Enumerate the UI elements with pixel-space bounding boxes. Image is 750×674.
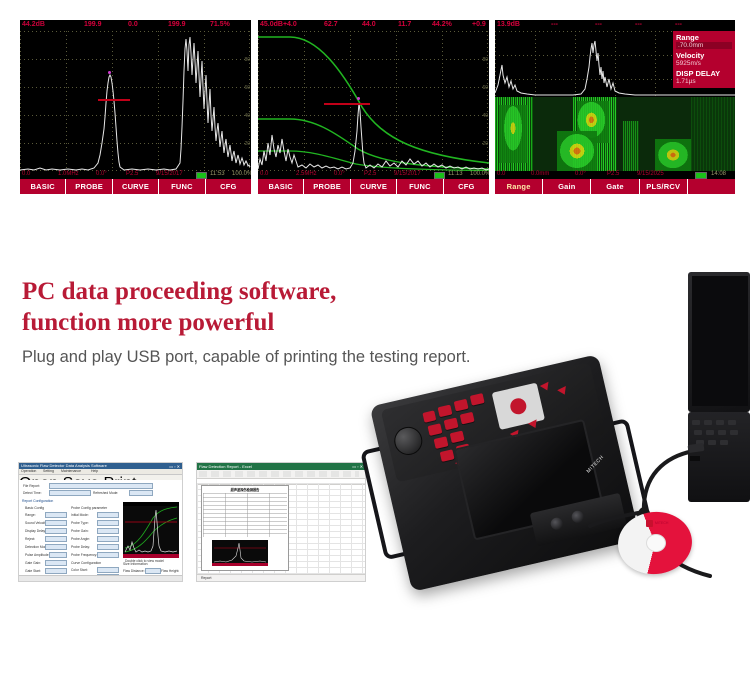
probe-gain-input[interactable] — [97, 528, 119, 534]
menu-setting[interactable]: Setting — [43, 469, 54, 473]
a-scan-screen[interactable]: 44.2dB 199.9 0.0 199.9 71.5% 80 60 40 20… — [20, 20, 251, 194]
screen3-bscan-waterfall — [495, 97, 735, 171]
screen3-menu-range[interactable]: Range — [495, 179, 543, 194]
key-r2c3[interactable] — [460, 412, 475, 425]
screen1-value-3: 199.9 — [168, 21, 186, 28]
screen3-menu-plsrcv[interactable]: PLS/RCV — [640, 179, 688, 194]
laptop-display[interactable] — [692, 276, 748, 406]
screen2-peak-marker — [357, 97, 360, 100]
file-report-input[interactable] — [49, 483, 153, 489]
refresh-mode-label: Refreshed Mode: — [93, 491, 118, 495]
probe-frequency-label: Probe Frequency: — [71, 553, 97, 557]
screen2-status-row: 0.0 2.5MHz 0.0° P2.5 9/15/2017 11:13 100… — [258, 171, 489, 179]
window-body: File Report: Detect Time: Refreshed Mode… — [19, 480, 182, 581]
window-controls[interactable]: ▭ ▫ ✕ — [169, 464, 180, 469]
screen2-menu-basic[interactable]: BASIC — [258, 179, 304, 194]
status-bar — [19, 575, 182, 581]
screen2-status-1: 2.5MHz — [296, 171, 317, 177]
file-report-label: File Report: — [23, 484, 40, 488]
probe-angle-input[interactable] — [97, 536, 119, 542]
excel-report-window[interactable]: Flaw Detection Report - Excel ▭ ▫ ✕ 超声波探… — [196, 462, 366, 582]
screen2-value-4: 44.2% — [432, 21, 452, 28]
screen2-plot: 80 60 40 20 — [258, 31, 489, 171]
excel-title: Flaw Detection Report - Excel — [199, 464, 252, 469]
pulse-amplitude-input[interactable] — [49, 552, 67, 558]
battery-icon — [695, 172, 707, 179]
waveform-preview — [123, 502, 179, 558]
screen2-status-2: 0.0° — [334, 171, 345, 177]
screen3-status-0: 0.0 — [497, 171, 505, 177]
screen1-menu-bar[interactable]: BASIC PROBE CURVE FUNC CFG — [20, 179, 251, 194]
screen2-gate-line — [324, 103, 370, 105]
model-hint: Double click to view model — [125, 559, 164, 563]
screen1-waveform — [20, 31, 251, 171]
menu-operation[interactable]: Operation — [21, 469, 36, 473]
sheet-tab[interactable]: Report — [201, 576, 212, 580]
reject-label: Reject: — [25, 537, 35, 541]
color-start-label: Color Start: — [71, 568, 88, 572]
screen3-status-row: 0.0 0.0mm 0.0° P2.5 9/15/2025 14:08 — [495, 171, 735, 179]
key-r2c2[interactable] — [444, 418, 459, 431]
pulse-amplitude-label: Pulse Amplitude: — [25, 553, 50, 557]
flaw-height-label: Flaw Height: — [161, 569, 179, 573]
screen1-status-1: 1.0MHz — [58, 171, 79, 177]
refresh-mode-input[interactable] — [129, 490, 153, 496]
screen1-status-6: 100.0% — [232, 171, 251, 177]
screen2-value-2: 44.0 — [362, 21, 376, 28]
key-r3c2[interactable] — [450, 431, 465, 444]
screen2-dac-curves — [258, 31, 489, 171]
display-delay-input[interactable] — [45, 528, 67, 534]
report-heading: 超声波探伤检测报告 — [202, 487, 288, 492]
key-r2c1[interactable] — [427, 423, 442, 436]
screen1-status-3: P2.5 — [126, 171, 138, 177]
detect-time-input[interactable] — [49, 490, 91, 496]
gate-gain-label: Gate Gain: — [25, 561, 41, 565]
flaw-distance-label: Flaw Distance: — [123, 569, 145, 573]
software-cd: MITECH — [618, 512, 692, 578]
screen2-status-5: 11:13 — [448, 171, 463, 177]
range-label: Range — [676, 33, 732, 42]
velocity-label: Velocity — [676, 51, 732, 60]
screen3-side-panel[interactable]: Range .70.0mm Velocity 5925m/s DISP DELA… — [673, 31, 735, 88]
screen1-gate-line — [98, 99, 130, 101]
arrow-key-2[interactable] — [557, 386, 569, 397]
flaw-distance-input[interactable] — [145, 568, 161, 574]
window-title: Ultrasonic Flaw Detector Data Analysis S… — [21, 463, 107, 468]
screen1-status-0: 0.0 — [22, 171, 30, 177]
screen1-value-1: 199.9 — [84, 21, 102, 28]
screen3-menu-bar[interactable]: Range Gain Gate PLS/RCV — [495, 179, 735, 194]
range-value[interactable]: .70.0mm — [676, 42, 732, 49]
usb-cable — [560, 400, 750, 620]
screen1-menu-func[interactable]: FUNC — [159, 179, 205, 194]
key-r3c1[interactable] — [434, 436, 449, 449]
screen3-menu-empty[interactable] — [688, 179, 735, 194]
screen3-status-3: P2.5 — [607, 171, 619, 177]
screen1-menu-probe[interactable]: PROBE — [66, 179, 112, 194]
screen3-status-2: 0.0° — [575, 171, 586, 177]
report-config-section: Report Configuration — [22, 499, 53, 503]
screen1-value-2: 0.0 — [128, 21, 138, 28]
gate-start-label: Gate Start: — [25, 569, 41, 573]
cd-label: MITECH — [655, 521, 668, 525]
menu-help[interactable]: Help — [91, 469, 98, 473]
screen1-status-row: 0.0 1.0MHz 0.0° P2.5 9/15/2017 11:53 100… — [20, 171, 251, 179]
probe-angle-label: Probe Angle: — [71, 537, 90, 541]
color-height-input[interactable] — [97, 581, 119, 582]
probe-frequency-input[interactable] — [97, 552, 119, 558]
color-start-input[interactable] — [97, 567, 119, 573]
screen2-menu-curve[interactable]: CURVE — [351, 179, 397, 194]
screen1-peak-marker — [108, 71, 111, 74]
screen1-status-4: 9/15/2017 — [156, 171, 183, 177]
initial-mode-label: Initial Mode: — [71, 513, 89, 517]
detection-mode-input[interactable] — [45, 544, 67, 550]
screen1-menu-curve[interactable]: CURVE — [113, 179, 159, 194]
screen3-menu-gate[interactable]: Gate — [591, 179, 639, 194]
screen3-status-4: 9/15/2025 — [637, 171, 664, 177]
screen2-gain-value: 45.0dB+4.0 — [260, 21, 297, 28]
screen2-value-3: 11.7 — [398, 21, 411, 28]
screen1-plot: 80 60 40 20 — [20, 31, 251, 171]
window-controls[interactable]: ▭ ▫ ✕ — [352, 464, 363, 469]
initial-mode-input[interactable] — [97, 512, 119, 518]
key-r1c2[interactable] — [438, 405, 453, 418]
probe-type-label: Probe Type: — [71, 521, 89, 525]
excel-ribbon[interactable] — [197, 470, 365, 479]
excel-status-bar: Report — [197, 574, 365, 581]
headline-line-1: PC data proceeding software, — [22, 278, 336, 305]
screen2-value-1: 62.7 — [324, 21, 338, 28]
basic-config-section: Basic Config — [25, 506, 44, 510]
curve-config-section: Curve Configuration — [71, 561, 101, 565]
screen2-menu-probe[interactable]: PROBE — [304, 179, 350, 194]
battery-icon — [196, 172, 207, 179]
screen1-value-4: 71.5% — [210, 21, 230, 28]
headline-block: PC data proceeding software, function mo… — [22, 276, 662, 368]
disp-delay-label: DISP DELAY — [676, 69, 732, 78]
screen3-menu-gain[interactable]: Gain — [543, 179, 591, 194]
pc-software-window[interactable]: Ultrasonic Flaw Detector Data Analysis S… — [18, 462, 183, 582]
dac-curve-screen[interactable]: 45.0dB+4.0 62.7 44.0 11.7 44.2% +0.9 80 … — [258, 20, 489, 194]
screen1-menu-cfg[interactable]: CFG — [206, 179, 251, 194]
gate-gain-input[interactable] — [45, 560, 67, 566]
screen2-status-0: 0.0 — [260, 171, 268, 177]
page-title: PC data proceeding software, function mo… — [22, 276, 662, 338]
screen2-menu-cfg[interactable]: CFG — [444, 179, 489, 194]
probe-gain-label: Probe Gain: — [71, 529, 89, 533]
screen3-status-1: 0.0mm — [531, 171, 549, 177]
headline-line-2: function more powerful — [22, 309, 274, 336]
screen1-status-2: 0.0° — [96, 171, 107, 177]
range-input[interactable] — [45, 512, 67, 518]
range-label: Range: — [25, 513, 36, 517]
disp-delay-value[interactable]: 1.71µs — [676, 78, 732, 85]
rotary-knob[interactable] — [392, 424, 426, 458]
cd-center-hole — [646, 534, 666, 552]
key-r1c3[interactable] — [454, 399, 469, 412]
spreadsheet-grid[interactable]: 超声波探伤检测报告 — [197, 483, 365, 575]
detect-time-label: Detect Time: — [23, 491, 42, 495]
screen2-status-3: P2.5 — [364, 171, 376, 177]
screen3-gain-value: 13.9dB — [497, 21, 520, 28]
report-sheet: 超声波探伤检测报告 — [201, 485, 289, 571]
velocity-value[interactable]: 5925m/s — [676, 60, 732, 67]
probe-config-section: Probe Config parameter — [71, 506, 107, 510]
key-r1c4[interactable] — [470, 393, 485, 406]
screen3-value-3: --- — [635, 21, 642, 28]
screen1-gain-value: 44.2dB — [22, 21, 45, 28]
screen2-status-4: 9/15/2017 — [394, 171, 421, 177]
power-key[interactable] — [422, 410, 436, 422]
screen2-menu-func[interactable]: FUNC — [397, 179, 443, 194]
gate-start-input[interactable] — [45, 568, 67, 574]
menu-maintenance[interactable]: Maintenance — [61, 469, 81, 473]
screen2-menu-bar[interactable]: BASIC PROBE CURVE FUNC CFG — [258, 179, 489, 194]
screen3-value-1: --- — [551, 21, 558, 28]
screen2-value-5: +0.9 — [472, 21, 486, 28]
screen1-status-5: 11:53 — [210, 171, 225, 177]
probe-delay-input[interactable] — [97, 544, 119, 550]
reject-input[interactable] — [45, 536, 67, 542]
arrow-key-1[interactable] — [540, 382, 552, 393]
b-scan-screen[interactable]: 13.9dB --- --- --- --- Range .70 — [495, 20, 735, 194]
probe-type-input[interactable] — [97, 520, 119, 526]
screen3-value-2: --- — [595, 21, 602, 28]
cd-logo-icon — [646, 520, 653, 527]
report-waveform-thumb — [212, 540, 268, 566]
display-delay-label: Display Delay: — [25, 529, 46, 533]
screen3-value-4: --- — [675, 21, 682, 28]
laptop-screen — [688, 272, 750, 412]
key-r4c1[interactable] — [440, 449, 455, 462]
screen2-status-6: 100.0% — [470, 171, 489, 177]
excel-title-bar: Flaw Detection Report - Excel ▭ ▫ ✕ — [197, 463, 365, 470]
screen3-status-5: 14:08 — [711, 171, 726, 177]
sound-velocity-input[interactable] — [45, 520, 67, 526]
screen1-menu-basic[interactable]: BASIC — [20, 179, 66, 194]
battery-icon — [434, 172, 445, 179]
probe-delay-label: Probe Delay: — [71, 545, 90, 549]
